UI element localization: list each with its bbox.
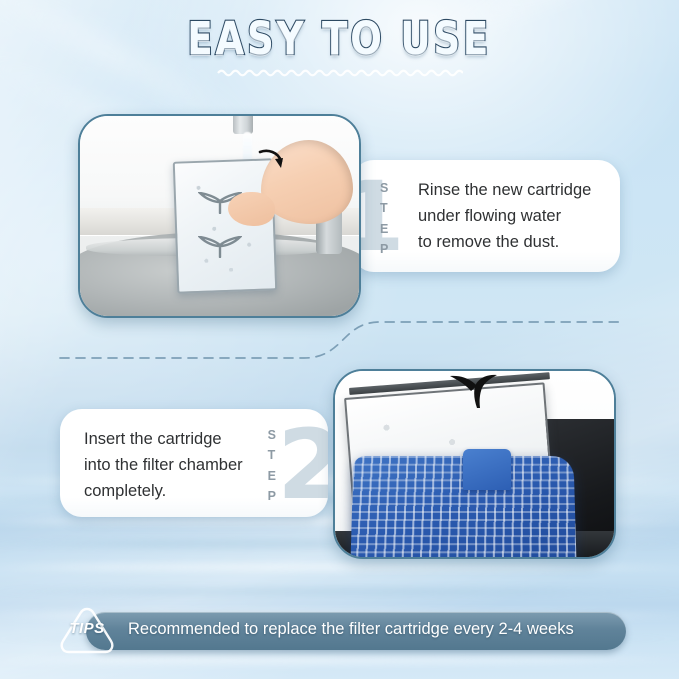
step-label-letter: S bbox=[380, 178, 388, 198]
curved-arrow-icon bbox=[258, 148, 284, 170]
step-1-photo bbox=[78, 114, 361, 318]
step-label-letter: T bbox=[380, 198, 388, 218]
step-label-letter: P bbox=[380, 239, 388, 259]
whale-tail-icon bbox=[447, 373, 505, 409]
step-2-text: Insert the cartridge into the filter cha… bbox=[84, 426, 243, 504]
title-wave-underline bbox=[217, 67, 463, 78]
tips-text: Recommended to replace the filter cartri… bbox=[128, 610, 610, 648]
infographic-canvas: EASY TO USE 1 S T E P Rinse the new cart… bbox=[0, 0, 679, 679]
step-label-letter: P bbox=[268, 486, 276, 506]
step-2-card: 2 S T E P Insert the cartridge into the … bbox=[60, 409, 328, 517]
step-1-text: Rinse the new cartridge under flowing wa… bbox=[418, 177, 591, 255]
step-label-letter: S bbox=[268, 425, 276, 445]
step-connector-dashed-line bbox=[58, 312, 624, 370]
leaf-pattern-icon bbox=[198, 236, 242, 258]
step-2-number: 2 bbox=[277, 417, 328, 513]
page-title: EASY TO USE bbox=[188, 16, 492, 61]
tips-banner: Recommended to replace the filter cartri… bbox=[56, 610, 626, 652]
step-1-card: 1 S T E P Rinse the new cartridge under … bbox=[352, 160, 620, 272]
step-2-label: S T E P bbox=[268, 425, 276, 506]
tips-badge-icon bbox=[56, 605, 118, 657]
step-1-label: S T E P bbox=[380, 178, 388, 259]
step-2-photo bbox=[333, 369, 616, 559]
step-label-letter: E bbox=[380, 219, 388, 239]
page-title-block: EASY TO USE bbox=[0, 16, 679, 78]
step-label-letter: E bbox=[268, 466, 276, 486]
step-label-letter: T bbox=[268, 445, 276, 465]
